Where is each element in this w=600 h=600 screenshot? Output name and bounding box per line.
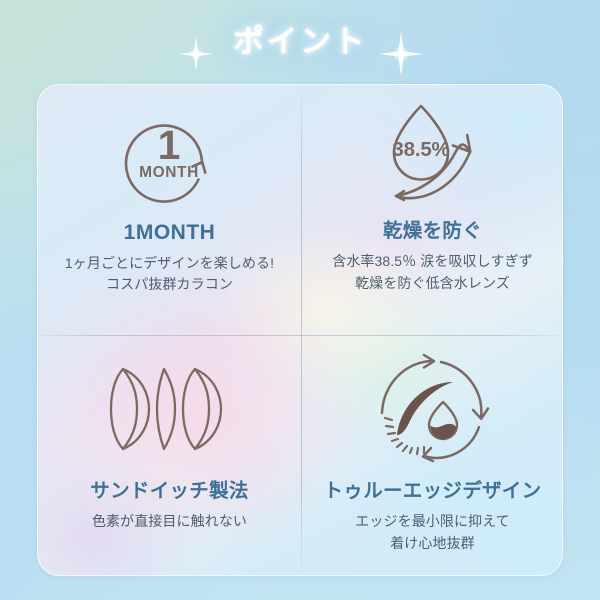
icon-small-label: MONTH: [139, 164, 199, 181]
icon-wrap: [38, 331, 301, 481]
feature-description-line: エッジを最小限に抑えて: [355, 511, 509, 532]
water-droplet-icon: 38.5%: [374, 100, 492, 214]
feature-description: エッジを最小限に抑えて 着け心地抜群: [355, 511, 509, 554]
feature-description-line: 色素が直接目に触れない: [92, 511, 247, 532]
feature-title: 1MONTH: [124, 221, 216, 244]
feature-title: トゥルーエッジデザイン: [324, 481, 542, 502]
feature-description-line: 乾燥を防ぐ低含水レンズ: [332, 273, 533, 294]
title-area: ポイント: [0, 12, 600, 74]
feature-description: 1ヶ月ごとにデザインを楽しめる! コスパ抜群カラコン: [65, 253, 274, 296]
feature-card-moisture[interactable]: 38.5% 乾燥を防ぐ 含水率38.5％ 涙を吸収しすぎず 乾燥を防ぐ低含水レン…: [301, 85, 563, 331]
feature-card-true-edge[interactable]: トゥルーエッジデザイン エッジを最小限に抑えて 着け心地抜群: [301, 331, 563, 576]
feature-card-1month[interactable]: 1 MONTH 1MONTH 1ヶ月ごとにデザインを楽しめる! コスパ抜群カラコ…: [38, 85, 301, 331]
icon-wrap: 1 MONTH: [38, 85, 301, 221]
feature-description: 含水率38.5％ 涙を吸収しすぎず 乾燥を防ぐ低含水レンズ: [332, 251, 533, 294]
feature-description: 色素が直接目に触れない: [92, 511, 247, 532]
circular-arrow-calendar-icon: 1 MONTH: [114, 101, 226, 213]
feature-card-sandwich[interactable]: サンドイッチ製法 色素が直接目に触れない: [38, 331, 301, 576]
feature-description-line: 1ヶ月ごとにデザインを楽しめる!: [65, 253, 274, 274]
icon-big-label: 38.5%: [392, 138, 449, 161]
feature-description-line: 着け心地抜群: [355, 533, 509, 554]
infographic-stage: ポイント 1 MONTH 1MONTH 1ヶ月ごとにデザインを楽しめる! コスパ…: [0, 0, 600, 600]
icon-wrap: 38.5%: [301, 85, 563, 221]
sandwich-lens-layers-icon: [108, 361, 232, 457]
feature-title: サンドイッチ製法: [90, 481, 248, 502]
icon-big-label: 1: [157, 122, 180, 168]
feature-title: 乾燥を防ぐ: [383, 221, 482, 242]
page-title: ポイント: [0, 26, 600, 57]
feature-description-line: 含水率38.5％ 涙を吸収しすぎず: [332, 251, 533, 272]
feature-description-line: コスパ抜群カラコン: [65, 274, 274, 295]
features-card: 1 MONTH 1MONTH 1ヶ月ごとにデザインを楽しめる! コスパ抜群カラコ…: [37, 84, 563, 576]
icon-wrap: [301, 331, 563, 481]
eye-teardrop-cycle-icon: [371, 351, 495, 467]
